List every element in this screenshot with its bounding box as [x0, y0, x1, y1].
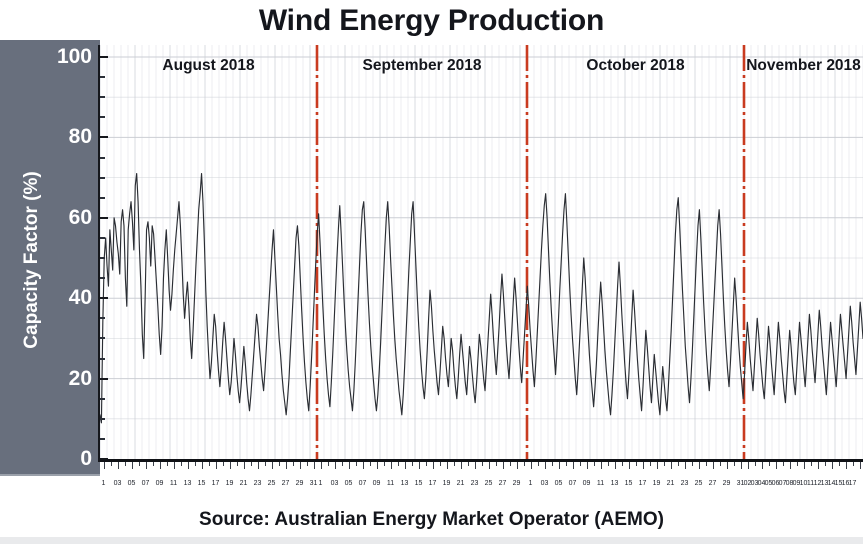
- x-tick-label: 29: [296, 480, 304, 487]
- x-tick: [405, 462, 406, 469]
- x-tick: [552, 462, 553, 466]
- x-tick: [706, 462, 707, 466]
- y-tick-major: [100, 217, 108, 219]
- y-tick-minor: [100, 438, 105, 440]
- x-tick-label: 23: [681, 480, 689, 487]
- x-tick: [160, 462, 161, 469]
- x-tick: [398, 462, 399, 466]
- x-tick: [580, 462, 581, 466]
- x-tick: [811, 462, 812, 466]
- x-tick-label: 17: [639, 480, 647, 487]
- x-tick: [230, 462, 231, 469]
- x-tick-label: 27: [709, 480, 717, 487]
- x-tick: [720, 462, 721, 466]
- x-tick-label: 31: [310, 480, 318, 487]
- y-tick-minor: [100, 76, 105, 78]
- page-title: Wind Energy Production: [0, 2, 863, 42]
- y-tick-minor: [100, 358, 105, 360]
- x-tick: [328, 462, 329, 466]
- y-tick-minor: [100, 116, 105, 118]
- x-tick: [748, 462, 749, 469]
- x-tick: [839, 462, 840, 466]
- x-tick-label: 25: [695, 480, 703, 487]
- x-tick-label: 17: [212, 480, 220, 487]
- x-tick: [769, 462, 770, 466]
- x-tick: [335, 462, 336, 469]
- y-tick-major: [100, 136, 108, 138]
- x-tick-label: 1: [102, 480, 106, 487]
- x-tick: [265, 462, 266, 466]
- y-tick-minor: [100, 177, 105, 179]
- y-tick-minor: [100, 96, 105, 98]
- y-tick-minor: [100, 317, 105, 319]
- x-tick-label: 15: [198, 480, 206, 487]
- x-tick: [132, 462, 133, 469]
- y-tick-label: 80: [22, 125, 92, 149]
- x-tick-label: 13: [184, 480, 192, 487]
- x-tick: [818, 462, 819, 469]
- x-tick: [699, 462, 700, 469]
- x-tick: [503, 462, 504, 469]
- x-tick: [118, 462, 119, 469]
- x-tick: [447, 462, 448, 469]
- x-tick: [195, 462, 196, 466]
- lower-left-corner: [0, 476, 100, 502]
- x-tick-label: 15: [415, 480, 423, 487]
- x-tick-label: 21: [457, 480, 465, 487]
- x-tick: [104, 462, 105, 469]
- x-tick-label: 13: [611, 480, 619, 487]
- x-tick-label: 17: [429, 480, 437, 487]
- y-tick-label: 40: [22, 286, 92, 310]
- x-tick: [454, 462, 455, 466]
- x-tick-label: 1: [529, 480, 533, 487]
- x-tick: [377, 462, 378, 469]
- y-tick-minor: [100, 398, 105, 400]
- x-tick: [111, 462, 112, 466]
- x-tick: [615, 462, 616, 469]
- x-tick: [524, 462, 525, 466]
- x-tick: [727, 462, 728, 469]
- x-tick-label: 25: [485, 480, 493, 487]
- x-tick-label: 17: [849, 480, 857, 487]
- x-tick: [293, 462, 294, 466]
- x-tick: [860, 462, 861, 469]
- y-tick-label: 0: [22, 447, 92, 471]
- x-tick: [510, 462, 511, 466]
- x-tick-label: 09: [373, 480, 381, 487]
- x-tick: [657, 462, 658, 469]
- x-tick-label: 15: [625, 480, 633, 487]
- x-tick: [741, 462, 742, 469]
- x-tick-label: 11: [387, 480, 394, 487]
- y-tick-major: [100, 297, 108, 299]
- x-tick: [426, 462, 427, 466]
- x-tick: [713, 462, 714, 469]
- x-tick: [538, 462, 539, 466]
- x-tick: [286, 462, 287, 469]
- y-tick-label: 100: [22, 45, 92, 69]
- x-tick: [321, 462, 322, 469]
- x-tick-label: 11: [597, 480, 604, 487]
- x-tick: [482, 462, 483, 466]
- x-tick-label: 05: [128, 480, 136, 487]
- x-tick: [468, 462, 469, 466]
- x-tick: [587, 462, 588, 469]
- x-tick-label: 07: [569, 480, 577, 487]
- x-tick: [174, 462, 175, 469]
- y-axis-title: Capacity Factor (%): [17, 60, 47, 460]
- x-tick: [384, 462, 385, 466]
- x-tick: [608, 462, 609, 466]
- y-axis-panel: Capacity Factor (%) 020406080100: [0, 40, 100, 476]
- x-tick-label: 09: [583, 480, 591, 487]
- x-tick-label: 05: [345, 480, 353, 487]
- x-tick: [804, 462, 805, 469]
- x-tick: [370, 462, 371, 466]
- x-tick: [258, 462, 259, 469]
- x-tick: [671, 462, 672, 469]
- x-tick: [237, 462, 238, 466]
- x-tick: [209, 462, 210, 466]
- x-tick: [636, 462, 637, 466]
- x-tick: [314, 462, 315, 469]
- bottom-strip: [0, 537, 863, 544]
- x-tick-label: 1: [319, 480, 323, 487]
- x-tick: [545, 462, 546, 469]
- x-axis-tick-labels: 1030507091113151719212325272931103050709…: [100, 480, 863, 502]
- x-tick: [139, 462, 140, 466]
- x-tick: [734, 462, 735, 466]
- x-axis-ticks: [100, 462, 863, 476]
- x-tick: [223, 462, 224, 466]
- x-tick: [461, 462, 462, 469]
- y-tick-minor: [100, 157, 105, 159]
- month-band-label: October 2018: [586, 57, 684, 75]
- x-tick: [433, 462, 434, 469]
- x-tick: [685, 462, 686, 469]
- x-tick-label: 03: [541, 480, 549, 487]
- x-tick-label: 19: [653, 480, 661, 487]
- x-tick: [181, 462, 182, 466]
- x-tick: [489, 462, 490, 469]
- x-tick: [643, 462, 644, 469]
- x-tick: [783, 462, 784, 466]
- x-tick: [188, 462, 189, 469]
- x-tick: [832, 462, 833, 469]
- month-band-label: September 2018: [363, 57, 482, 75]
- source-caption: Source: Australian Energy Market Operato…: [0, 505, 863, 537]
- x-tick: [391, 462, 392, 469]
- x-tick: [559, 462, 560, 469]
- x-tick: [412, 462, 413, 466]
- y-tick-minor: [100, 257, 105, 259]
- x-tick: [167, 462, 168, 466]
- x-tick-label: 21: [667, 480, 675, 487]
- x-tick-label: 07: [142, 480, 150, 487]
- x-tick: [762, 462, 763, 469]
- y-tick-minor: [100, 337, 105, 339]
- x-tick: [825, 462, 826, 466]
- x-tick: [650, 462, 651, 466]
- y-tick-minor: [100, 418, 105, 420]
- x-tick: [692, 462, 693, 466]
- plot-area: [100, 45, 863, 461]
- x-tick: [216, 462, 217, 469]
- x-tick-label: 07: [359, 480, 367, 487]
- major-gridlines: [100, 45, 863, 459]
- x-tick-label: 29: [723, 480, 731, 487]
- x-tick-label: 27: [282, 480, 290, 487]
- x-tick-label: 19: [226, 480, 234, 487]
- x-tick: [279, 462, 280, 466]
- x-tick-label: 29: [513, 480, 521, 487]
- x-tick: [125, 462, 126, 466]
- x-tick: [629, 462, 630, 469]
- x-tick: [797, 462, 798, 466]
- x-tick: [300, 462, 301, 469]
- x-tick: [664, 462, 665, 466]
- y-tick-major: [100, 56, 108, 58]
- x-tick: [307, 462, 308, 466]
- x-tick: [342, 462, 343, 466]
- x-tick: [776, 462, 777, 469]
- y-tick-minor: [100, 237, 105, 239]
- x-tick-label: 11: [170, 480, 177, 487]
- x-tick: [601, 462, 602, 469]
- x-tick-label: 19: [443, 480, 451, 487]
- y-tick-minor: [100, 197, 105, 199]
- minor-gridlines: [100, 45, 863, 459]
- x-tick: [790, 462, 791, 469]
- month-band-label: November 2018: [746, 57, 861, 75]
- x-tick-label: 03: [114, 480, 122, 487]
- x-tick: [272, 462, 273, 469]
- x-tick: [594, 462, 595, 466]
- x-tick-label: 23: [254, 480, 262, 487]
- x-tick: [349, 462, 350, 469]
- x-tick: [146, 462, 147, 469]
- x-tick: [244, 462, 245, 469]
- y-tick-label: 20: [22, 367, 92, 391]
- x-tick-label: 13: [401, 480, 409, 487]
- x-tick: [251, 462, 252, 466]
- x-tick: [517, 462, 518, 469]
- x-tick: [356, 462, 357, 466]
- x-tick-label: 09: [156, 480, 164, 487]
- x-tick-label: 25: [268, 480, 276, 487]
- y-tick-minor: [100, 277, 105, 279]
- y-tick-label: 60: [22, 206, 92, 230]
- month-separators: [317, 45, 744, 459]
- x-tick: [202, 462, 203, 469]
- x-tick-label: 27: [499, 480, 507, 487]
- x-tick-label: 05: [555, 480, 563, 487]
- x-tick: [153, 462, 154, 466]
- x-tick: [573, 462, 574, 469]
- x-tick: [846, 462, 847, 469]
- x-tick: [419, 462, 420, 469]
- series-canvas: [100, 45, 863, 461]
- chart-screenshot: Wind Energy Production Capacity Factor (…: [0, 0, 863, 544]
- x-tick-label: 21: [240, 480, 248, 487]
- month-band-label: August 2018: [162, 57, 254, 75]
- y-tick-major: [100, 378, 108, 380]
- x-tick: [363, 462, 364, 469]
- x-tick: [755, 462, 756, 466]
- x-tick-label: 03: [331, 480, 339, 487]
- x-tick: [440, 462, 441, 466]
- y-tick-major: [100, 458, 108, 460]
- x-tick: [678, 462, 679, 466]
- x-tick: [853, 462, 854, 466]
- x-tick: [496, 462, 497, 466]
- x-tick: [622, 462, 623, 466]
- x-tick: [475, 462, 476, 469]
- x-tick-label: 23: [471, 480, 479, 487]
- x-tick: [566, 462, 567, 466]
- x-tick: [531, 462, 532, 469]
